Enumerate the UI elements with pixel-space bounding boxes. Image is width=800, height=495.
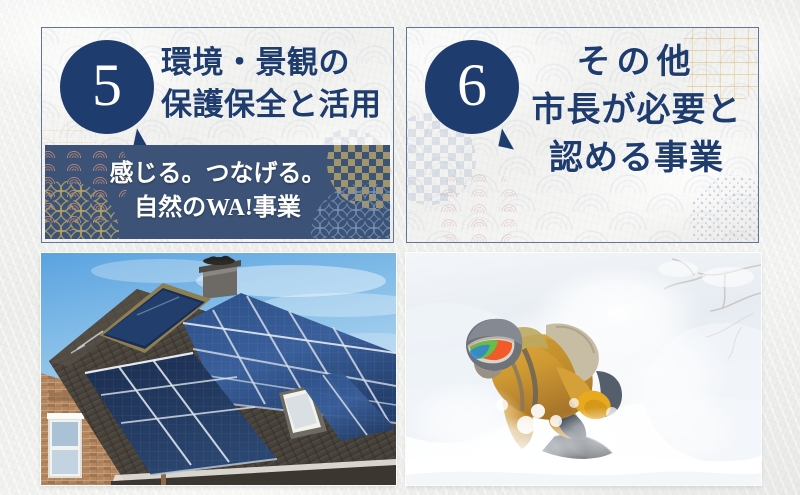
program-card-6[interactable]: 6 その他 市長が必要と 認める事業 [406, 27, 759, 243]
photo-snowboarder [406, 253, 761, 485]
card-heading: 環境・景観の 保護保全と活用 [161, 42, 382, 126]
program-card-5[interactable]: 5 環境・景観の 保護保全と活用 感じる。つなげる。 自然のWA!事業 [41, 27, 394, 243]
card-heading-line-2: 市長が必要と [524, 87, 749, 135]
card-number-label: 5 [92, 55, 122, 115]
card-number-bubble: 5 [60, 40, 154, 134]
card-heading: その他 市長が必要と 認める事業 [524, 39, 749, 183]
card-heading-line-3: 認める事業 [524, 135, 749, 183]
card-banner-text: 感じる。つなげる。 自然のWA!事業 [45, 145, 390, 225]
card-heading-line-1: 環境・景観の [161, 45, 350, 80]
solar-panel-illustration [41, 253, 396, 485]
card-banner: 感じる。つなげる。 自然のWA!事業 [45, 145, 390, 239]
photo-solar-panels [41, 253, 396, 485]
page-root: 5 環境・景観の 保護保全と活用 感じる。つなげる。 自然のWA!事業 [0, 0, 800, 495]
card-number-label: 6 [457, 55, 487, 115]
card-number-bubble: 6 [425, 40, 519, 134]
card-banner-line-2: 自然のWA!事業 [45, 191, 390, 225]
card-banner-line-1: 感じる。つなげる。 [45, 157, 390, 191]
snowboarder-illustration [406, 253, 761, 485]
card-heading-line-2: 保護保全と活用 [161, 87, 382, 122]
card-heading-line-1: その他 [524, 39, 749, 87]
seigaiha-pattern-circle-pink [434, 167, 520, 243]
